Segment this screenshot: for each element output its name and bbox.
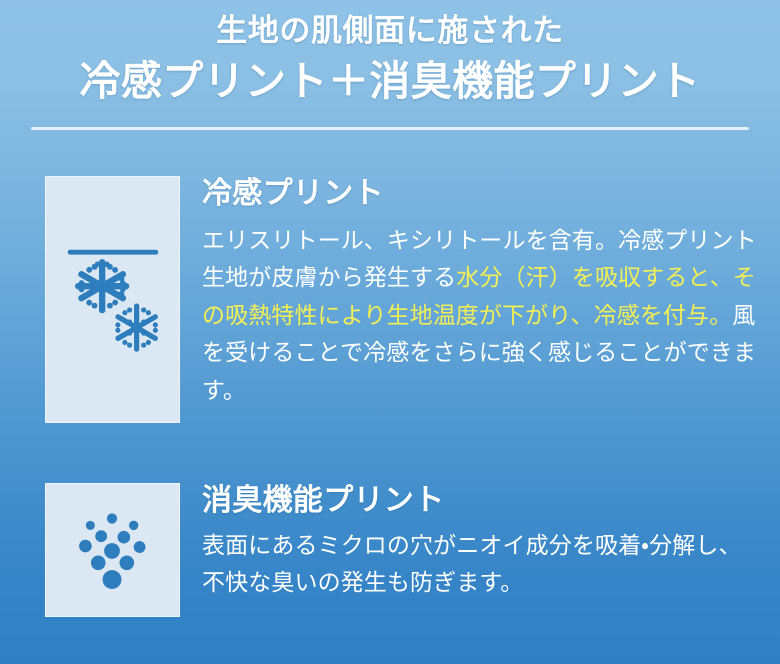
deodorizing-print-heading: 消臭機能プリント bbox=[202, 483, 762, 519]
title-line-2: 冷感プリント＋消臭機能プリント bbox=[0, 54, 780, 108]
cooling-print-heading: 冷感プリント bbox=[202, 176, 762, 212]
feature-cooling-print: 冷感プリント エリスリトール、キシリトールを含有。冷感プリント生地が皮膚から発生… bbox=[0, 176, 780, 423]
title-line-1: 生地の肌側面に施された bbox=[0, 10, 780, 52]
promo-banner: 生地の肌側面に施された 冷感プリント＋消臭機能プリント bbox=[0, 0, 780, 664]
deodorizing-print-body: 表面にあるミクロの穴がニオイ成分を吸着・分解し、不快な臭いの発生も防ぎます。 bbox=[202, 527, 762, 602]
deodorizing-print-text: 消臭機能プリント 表面にあるミクロの穴がニオイ成分を吸着・分解し、不快な臭いの発… bbox=[180, 483, 780, 602]
cooling-print-text: 冷感プリント エリスリトール、キシリトールを含有。冷感プリント生地が皮膚から発生… bbox=[180, 176, 780, 409]
snowflake-icon bbox=[46, 177, 179, 422]
feature-deodorizing-print: 消臭機能プリント 表面にあるミクロの穴がニオイ成分を吸着・分解し、不快な臭いの発… bbox=[0, 483, 780, 617]
header-divider bbox=[31, 127, 749, 130]
cooling-print-body: エリスリトール、キシリトールを含有。冷感プリント生地が皮膚から発生する水分（汗）… bbox=[202, 222, 762, 409]
deodorizing-print-icon-panel bbox=[45, 483, 180, 617]
feature-list: 冷感プリント エリスリトール、キシリトールを含有。冷感プリント生地が皮膚から発生… bbox=[0, 176, 780, 617]
banner-header: 生地の肌側面に施された 冷感プリント＋消臭機能プリント bbox=[0, 0, 780, 130]
cooling-print-icon-panel bbox=[45, 176, 180, 423]
micro-pores-dots-icon bbox=[46, 484, 179, 616]
